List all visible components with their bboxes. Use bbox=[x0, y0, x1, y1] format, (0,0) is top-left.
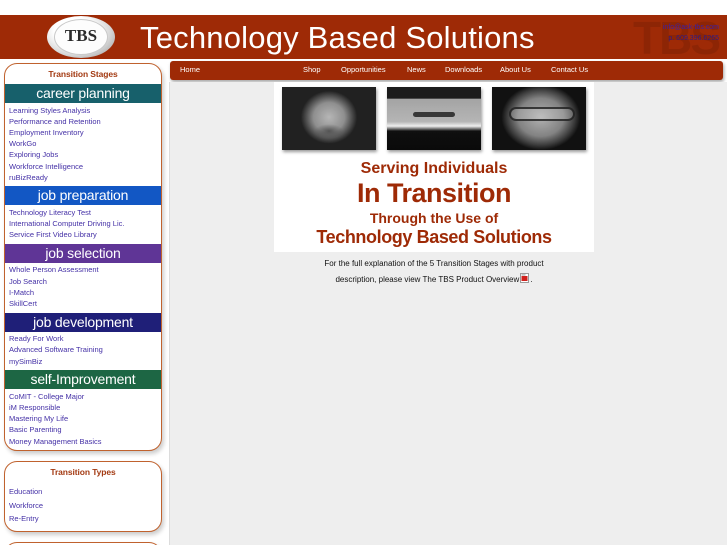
link-exploring-jobs[interactable]: Exploring Jobs bbox=[9, 150, 161, 161]
product-overview-link[interactable]: The TBS Product Overview bbox=[423, 275, 520, 284]
link-im-responsible[interactable]: iM Responsible bbox=[9, 402, 161, 413]
banner-photo-2 bbox=[387, 87, 481, 150]
nav-item-about-us[interactable]: About Us bbox=[500, 65, 531, 74]
stage-list-job-preparation: Technology Literacy Test International C… bbox=[5, 205, 161, 244]
stage-header-self-improvement[interactable]: self-Improvement bbox=[5, 370, 161, 389]
stage-header-job-selection[interactable]: job selection bbox=[5, 244, 161, 263]
site-header: TBS TBS Technology Based Solutions info@… bbox=[0, 15, 727, 59]
stage-header-job-preparation[interactable]: job preparation bbox=[5, 186, 161, 205]
email-link[interactable]: info@ask-tbs.com bbox=[663, 22, 719, 33]
panel-transition-stages: Transition Stages career planning Learni… bbox=[4, 63, 162, 451]
link-performance-and-retention[interactable]: Performance and Retention bbox=[9, 116, 161, 127]
stage-list-career-planning: Learning Styles Analysis Performance and… bbox=[5, 103, 161, 186]
caption-line-2-prefix: description, please view bbox=[335, 275, 422, 284]
link-mysimbiz[interactable]: mySimBiz bbox=[9, 356, 161, 367]
banner-photo-strip bbox=[282, 87, 586, 150]
nav-bar: Home Shop Opportunities News Downloads A… bbox=[170, 61, 723, 80]
link-education[interactable]: Education bbox=[9, 485, 161, 498]
link-whole-person-assessment[interactable]: Whole Person Assessment bbox=[9, 265, 161, 276]
link-re-entry[interactable]: Re-Entry bbox=[9, 512, 161, 525]
caption-line-2-suffix: . bbox=[530, 275, 532, 284]
panel-transition-types: Transition Types Education Workforce Re-… bbox=[4, 461, 162, 532]
link-comit-college-major[interactable]: CoMIT - College Major bbox=[9, 391, 161, 402]
link-i-match[interactable]: I-Match bbox=[9, 287, 161, 298]
link-ready-for-work[interactable]: Ready For Work bbox=[9, 334, 161, 345]
main-content: Serving Individuals In Transition Throug… bbox=[170, 82, 727, 545]
link-money-management-basics[interactable]: Money Management Basics bbox=[9, 436, 161, 447]
banner-line-technology-based-solutions: Technology Based Solutions bbox=[274, 227, 594, 248]
banner-line-serving-individuals: Serving Individuals bbox=[274, 160, 594, 178]
header-contact-info: info@ask-tbs.com p. 609.396.6265 bbox=[663, 22, 719, 44]
pdf-icon[interactable] bbox=[520, 273, 529, 283]
link-job-search[interactable]: Job Search bbox=[9, 276, 161, 287]
link-technology-literacy-test[interactable]: Technology Literacy Test bbox=[9, 207, 161, 218]
hero-banner: Serving Individuals In Transition Throug… bbox=[274, 82, 594, 252]
stage-list-job-selection: Whole Person Assessment Job Search I-Mat… bbox=[5, 263, 161, 313]
banner-photo-3 bbox=[492, 87, 586, 150]
link-workgo[interactable]: WorkGo bbox=[9, 139, 161, 150]
link-advanced-software-training[interactable]: Advanced Software Training bbox=[9, 345, 161, 356]
main-navigation: Home Shop Opportunities News Downloads A… bbox=[170, 61, 723, 80]
link-learning-styles-analysis[interactable]: Learning Styles Analysis bbox=[9, 105, 161, 116]
nav-item-shop[interactable]: Shop bbox=[303, 65, 321, 74]
link-international-computer-driving-lic[interactable]: International Computer Driving Lic. bbox=[9, 219, 161, 230]
banner-line-in-transition: In Transition bbox=[274, 178, 594, 209]
site-title: Technology Based Solutions bbox=[140, 20, 535, 56]
nav-item-contact-us[interactable]: Contact Us bbox=[551, 65, 588, 74]
stage-list-self-improvement: CoMIT - College Major iM Responsible Mas… bbox=[5, 389, 161, 450]
stage-list-job-development: Ready For Work Advanced Software Trainin… bbox=[5, 332, 161, 371]
link-workforce-intelligence[interactable]: Workforce Intelligence bbox=[9, 161, 161, 172]
page-root: TBS TBS Technology Based Solutions info@… bbox=[0, 0, 727, 545]
phone-number: p. 609.396.6265 bbox=[663, 33, 719, 44]
link-rubizready[interactable]: ruBizReady bbox=[9, 172, 161, 183]
stage-header-career-planning[interactable]: career planning bbox=[5, 84, 161, 103]
link-skillcert[interactable]: SkillCert bbox=[9, 298, 161, 309]
nav-item-opportunities[interactable]: Opportunities bbox=[341, 65, 386, 74]
panel-title-transition-types: Transition Types bbox=[5, 462, 161, 482]
link-service-first-video-library[interactable]: Service First Video Library bbox=[9, 230, 161, 241]
transition-types-list: Education Workforce Re-Entry bbox=[5, 482, 161, 531]
stage-header-job-development[interactable]: job development bbox=[5, 313, 161, 332]
nav-item-home[interactable]: Home bbox=[180, 65, 200, 74]
link-mastering-my-life[interactable]: Mastering My Life bbox=[9, 414, 161, 425]
caption-line-1: For the full explanation of the 5 Transi… bbox=[324, 259, 543, 268]
banner-line-through-the-use-of: Through the Use of bbox=[274, 210, 594, 226]
panel-title-transition-stages: Transition Stages bbox=[5, 64, 161, 84]
banner-photo-1 bbox=[282, 87, 376, 150]
banner-caption: For the full explanation of the 5 Transi… bbox=[254, 256, 614, 288]
link-employment-inventory[interactable]: Employment Inventory bbox=[9, 127, 161, 138]
logo-text: TBS bbox=[47, 26, 115, 46]
nav-item-news[interactable]: News bbox=[407, 65, 426, 74]
sidebar: Transition Stages career planning Learni… bbox=[4, 63, 162, 545]
link-workforce[interactable]: Workforce bbox=[9, 499, 161, 512]
nav-item-downloads[interactable]: Downloads bbox=[445, 65, 482, 74]
link-basic-parenting[interactable]: Basic Parenting bbox=[9, 425, 161, 436]
tbs-logo[interactable]: TBS bbox=[47, 16, 115, 58]
